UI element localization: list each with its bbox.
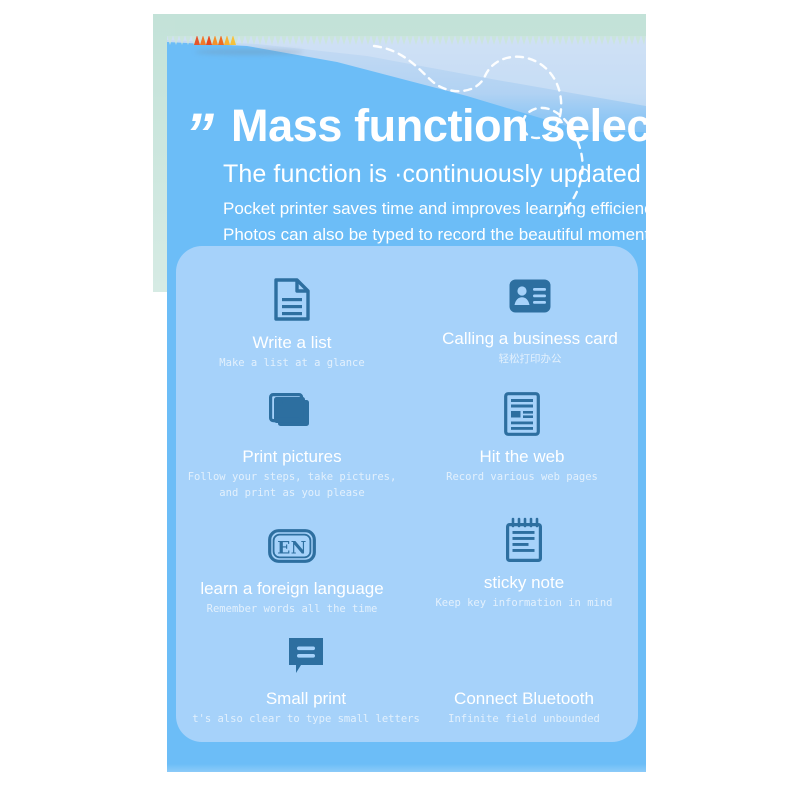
feature-desc-line-1: Keep key information in mind (404, 596, 644, 612)
poster-root: ” Mass function selec The function is ·c… (0, 0, 800, 800)
en-badge-icon: EN (172, 518, 412, 574)
feature-title: Calling a business card (410, 328, 646, 349)
page-blurb: Pocket printer saves time and improves l… (223, 196, 646, 249)
feature-title: Print pictures (172, 446, 412, 467)
feature-item-hit-the-web[interactable]: Hit the web Record various web pages (402, 386, 642, 486)
feature-desc-line-1: Infinite field unbounded (404, 712, 644, 728)
page-title: Mass function selec (231, 102, 646, 149)
feature-desc: Keep key information in mind (404, 596, 644, 612)
quote-mark-icon: ” (185, 118, 211, 153)
page-blurb-line-1: Pocket printer saves time and improves l… (223, 196, 646, 222)
svg-text:EN: EN (277, 539, 307, 559)
feature-title: Write a list (172, 332, 412, 353)
feature-item-write-a-list[interactable]: Write a list Make a list at a glance (172, 272, 412, 372)
feature-desc: 轻松打印办公 (410, 352, 646, 368)
bottom-glow-decoration (167, 764, 646, 772)
feature-title: learn a foreign language (172, 578, 412, 599)
page-blurb-line-2: Photos can also be typed to record the b… (223, 222, 646, 248)
notepad-icon (404, 512, 644, 568)
page-subtitle: The function is ·continuously updated (223, 160, 641, 189)
feature-desc: Infinite field unbounded (404, 712, 644, 728)
feature-desc: t's also clear to type small letters (186, 712, 426, 728)
feature-item-small-print[interactable]: Small print t's also clear to type small… (186, 628, 426, 728)
feature-panel: Write a list Make a list at a glance (176, 246, 638, 742)
feature-title: Small print (186, 688, 426, 709)
feature-desc: Follow your steps, take pictures, and pr… (172, 470, 412, 502)
feature-desc-line-1: Remember words all the time (172, 602, 412, 618)
feature-desc-line-1: Make a list at a glance (172, 356, 412, 372)
chat-bubble-icon (186, 628, 426, 684)
feature-item-print-pictures[interactable]: Print pictures Follow your steps, take p… (172, 386, 412, 502)
web-page-icon (402, 386, 642, 442)
feature-desc-line-1: t's also clear to type small letters (186, 712, 426, 728)
feature-title: sticky note (404, 572, 644, 593)
feature-item-connect-bluetooth[interactable]: Connect Bluetooth Infinite field unbound… (404, 628, 644, 728)
feature-desc-line-1: 轻松打印办公 (410, 352, 646, 368)
feature-desc: Make a list at a glance (172, 356, 412, 372)
document-lines-icon (172, 272, 412, 328)
feature-item-learn-a-foreign-language[interactable]: EN learn a foreign language Remember wor… (172, 518, 412, 618)
feature-title: Connect Bluetooth (404, 688, 644, 709)
feature-desc: Record various web pages (402, 470, 642, 486)
feature-title: Hit the web (402, 446, 642, 467)
feature-desc: Remember words all the time (172, 602, 412, 618)
photos-stack-icon (172, 386, 412, 442)
blue-card: ” Mass function selec The function is ·c… (167, 36, 646, 772)
sawtooth-torn-edge (167, 36, 646, 49)
smudge-decoration (195, 49, 303, 55)
feature-grid: Write a list Make a list at a glance (176, 246, 638, 742)
feature-item-sticky-note[interactable]: sticky note Keep key information in mind (404, 512, 644, 612)
feature-desc-line-2: and print as you please (172, 486, 412, 502)
feature-desc-line-1: Record various web pages (402, 470, 642, 486)
business-card-icon (410, 268, 646, 324)
feature-item-calling-a-business-card[interactable]: Calling a business card 轻松打印办公 (410, 268, 646, 368)
feature-desc-line-1: Follow your steps, take pictures, (172, 470, 412, 486)
